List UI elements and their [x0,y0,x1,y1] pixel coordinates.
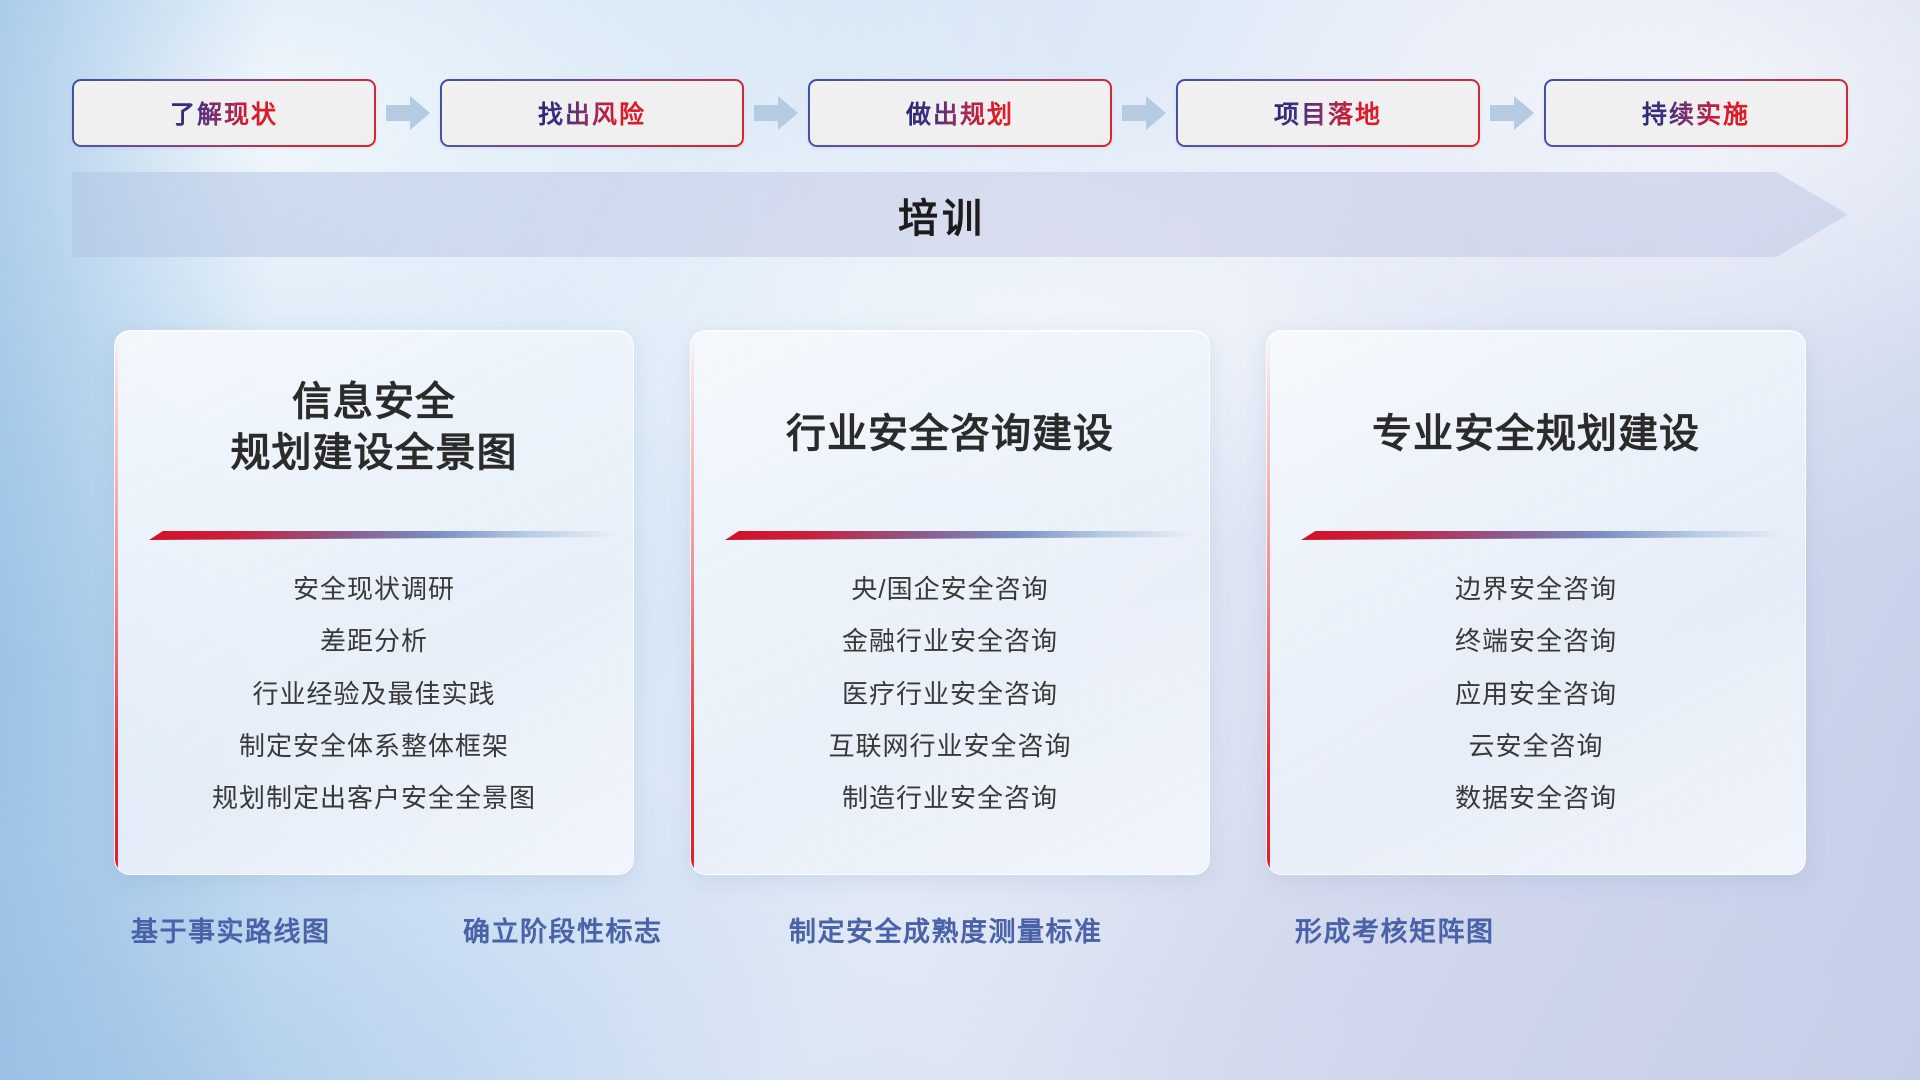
step-box-1[interactable]: 了解现状 [72,79,376,147]
step-box-3[interactable]: 做出规划 [808,79,1112,147]
step-box-2[interactable]: 找出风险 [440,79,744,147]
card-industry-security-consulting[interactable]: 行业安全咨询建设 [690,330,1210,875]
list-item: 互联网行业安全咨询 [828,726,1071,766]
card-divider-2 [725,531,1191,540]
process-steps: 了解现状 找出风险 做出规划 项目落地 [72,78,1848,148]
card-list-2: 央/国企安全咨询 金融行业安全咨询 医疗行业安全咨询 互联网行业安全咨询 制造行… [691,569,1209,818]
card-list-1: 安全现状调研 差距分析 行业经验及最佳实践 制定安全体系整体框架 规划制定出客户… [115,569,633,818]
list-item: 安全现状调研 [293,569,455,609]
list-item: 边界安全咨询 [1455,569,1617,609]
slide-stage: 了解现状 找出风险 做出规划 项目落地 [0,0,1920,1080]
list-item: 制定安全体系整体框架 [239,726,509,766]
step-label-3: 做出规划 [906,95,1014,131]
step-arrow-icon-3 [1112,96,1176,130]
list-item: 终端安全咨询 [1455,621,1617,661]
step-label-4: 项目落地 [1274,95,1382,131]
step-arrow-icon-4 [1480,96,1544,130]
list-item: 规划制定出客户安全全景图 [212,778,536,818]
footnote-4: 形成考核矩阵图 [1295,910,1495,949]
list-item: 央/国企安全咨询 [851,569,1048,609]
footnote-3: 制定安全成熟度测量标准 [789,910,1103,949]
card-title-2: 行业安全咨询建设 [691,409,1209,460]
training-banner: 培训 [72,172,1848,257]
card-list-3: 边界安全咨询 终端安全咨询 应用安全咨询 云安全咨询 数据安全咨询 [1267,569,1805,818]
step-label-1: 了解现状 [170,95,278,131]
banner-title: 培训 [72,172,1848,257]
list-item: 差距分析 [320,621,428,661]
step-box-4[interactable]: 项目落地 [1176,79,1480,147]
card-group: 信息安全 规划建设全景图 [0,330,1920,875]
step-arrow-icon-1 [376,96,440,130]
step-box-5[interactable]: 持续实施 [1544,79,1848,147]
list-item: 数据安全咨询 [1455,778,1617,818]
card-divider-1 [149,531,615,540]
step-label-5: 持续实施 [1642,95,1750,131]
list-item: 云安全咨询 [1468,726,1603,766]
footnote-1: 基于事实路线图 [131,910,331,949]
step-label-2: 找出风险 [538,95,646,131]
card-information-security-panorama[interactable]: 信息安全 规划建设全景图 [114,330,634,875]
card-title-1: 信息安全 规划建设全景图 [115,377,633,479]
card-professional-security-planning[interactable]: 专业安全规划建设 [1266,330,1806,875]
footnote-2: 确立阶段性标志 [463,910,663,949]
list-item: 行业经验及最佳实践 [252,674,495,714]
list-item: 医疗行业安全咨询 [842,674,1058,714]
list-item: 制造行业安全咨询 [842,778,1058,818]
list-item: 应用安全咨询 [1455,674,1617,714]
card-title-3: 专业安全规划建设 [1267,409,1805,460]
footnote-group: 基于事实路线图 确立阶段性标志 制定安全成熟度测量标准 形成考核矩阵图 [0,910,1920,970]
list-item: 金融行业安全咨询 [842,621,1058,661]
card-divider-3 [1301,531,1787,540]
step-arrow-icon-2 [744,96,808,130]
